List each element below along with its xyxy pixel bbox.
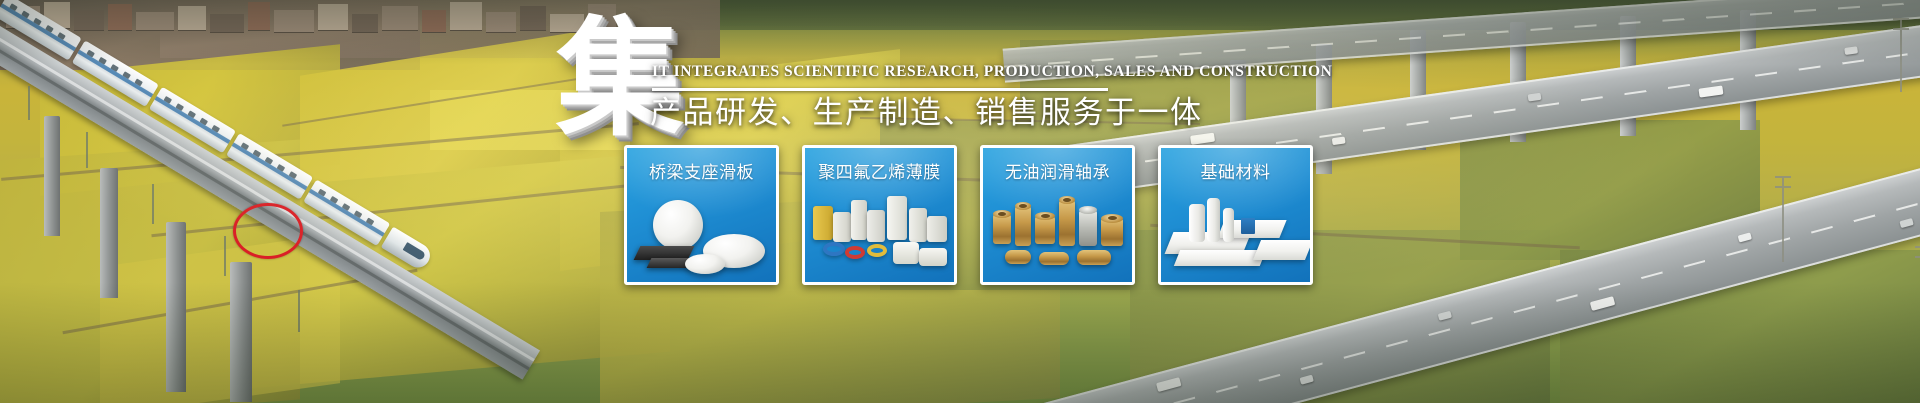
product-card-title: 无油润滑轴承 xyxy=(983,158,1132,183)
headline-divider-rule xyxy=(652,88,1108,91)
product-card-ptfe-film[interactable]: 聚四氟乙烯薄膜 xyxy=(802,145,957,285)
product-card-base-materials[interactable]: 基础材料 xyxy=(1158,145,1313,285)
tagline-english: IT INTEGRATES SCIENTIFIC RESEARCH, PRODU… xyxy=(652,63,1332,81)
product-card-title: 聚四氟乙烯薄膜 xyxy=(805,158,954,183)
product-card-title: 桥梁支座滑板 xyxy=(627,158,776,183)
product-card-image-base-materials xyxy=(1161,188,1310,282)
product-card-list: 桥梁支座滑板 聚四氟乙烯薄膜 xyxy=(624,145,1313,285)
product-card-image-oil-free-bearings xyxy=(983,188,1132,282)
product-card-image-ptfe-sliding-plate xyxy=(627,188,776,282)
tagline-chinese: 产品研发、生产制造、销售服务于一体 xyxy=(650,94,1203,133)
product-card-image-ptfe-film-rolls xyxy=(805,188,954,282)
hero-banner: 集 IT INTEGRATES SCIENTIFIC RESEARCH, PRO… xyxy=(0,0,1920,403)
product-card-title: 基础材料 xyxy=(1161,158,1310,183)
product-card-oil-free-bearing[interactable]: 无油润滑轴承 xyxy=(980,145,1135,285)
product-card-bridge-bearing-plate[interactable]: 桥梁支座滑板 xyxy=(624,145,779,285)
